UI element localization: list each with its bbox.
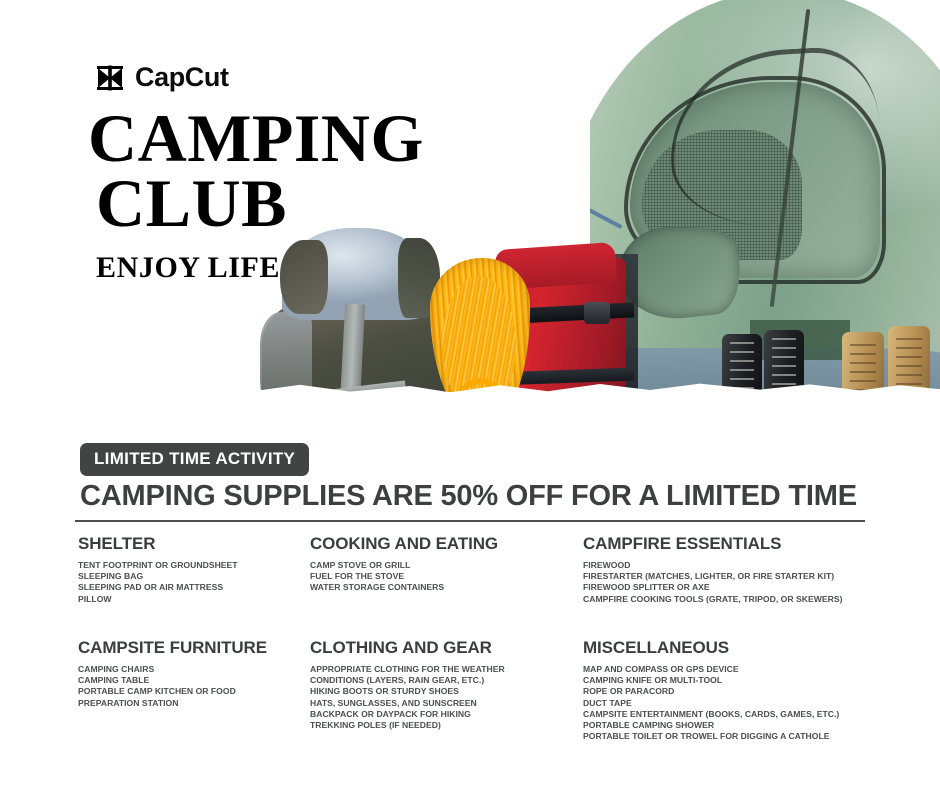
supply-item: CAMP STOVE OR GRILL [310, 560, 580, 571]
section-shelter: SHELTER TENT FOOTPRINT OR GROUNDSHEETSLE… [78, 534, 308, 605]
capcut-logo-icon [96, 65, 126, 91]
section-clothing-and-gear: CLOTHING AND GEAR APPROPRIATE CLOTHING F… [310, 638, 580, 731]
section-title: SHELTER [78, 534, 308, 554]
section-items: FIREWOODFIRESTARTER (MATCHES, LIGHTER, O… [583, 560, 883, 605]
supply-item: FIREWOOD [583, 560, 883, 571]
supply-item: FIRESTARTER (MATCHES, LIGHTER, OR FIRE S… [583, 571, 883, 582]
section-campfire-essentials: CAMPFIRE ESSENTIALS FIREWOODFIRESTARTER … [583, 534, 883, 605]
supply-item: CAMPING CHAIRS [78, 664, 308, 675]
section-cooking-and-eating: COOKING AND EATING CAMP STOVE OR GRILLFU… [310, 534, 580, 594]
supply-item: CAMPING KNIFE OR MULTI-TOOL [583, 675, 883, 686]
section-items: APPROPRIATE CLOTHING FOR THE WEATHERCOND… [310, 664, 580, 731]
supply-item: WATER STORAGE CONTAINERS [310, 582, 580, 593]
supply-item: FUEL FOR THE STOVE [310, 571, 580, 582]
brand-logo: CapCut [96, 62, 229, 93]
supply-item: SLEEPING BAG [78, 571, 308, 582]
supply-item: SLEEPING PAD OR AIR MATTRESS [78, 582, 308, 593]
supply-item: PORTABLE CAMP KITCHEN OR FOOD [78, 686, 308, 697]
section-title: MISCELLANEOUS [583, 638, 883, 658]
photo-bottom-fade [0, 392, 940, 440]
section-items: CAMPING CHAIRSCAMPING TABLEPORTABLE CAMP… [78, 664, 308, 709]
supply-item: PORTABLE TOILET OR TROWEL FOR DIGGING A … [583, 731, 883, 742]
section-items: CAMP STOVE OR GRILLFUEL FOR THE STOVEWAT… [310, 560, 580, 594]
supply-item: TENT FOOTPRINT OR GROUNDSHEET [78, 560, 308, 571]
hero-title-line-2: CLUB [96, 171, 424, 236]
supply-item: APPROPRIATE CLOTHING FOR THE WEATHER [310, 664, 580, 675]
hero-title-line-1: CAMPING [88, 106, 424, 171]
supply-item: CAMPFIRE COOKING TOOLS (GRATE, TRIPOD, O… [583, 594, 883, 605]
hero-subtitle: ENJOY LIFE [96, 251, 424, 285]
supply-item: PILLOW [78, 594, 308, 605]
promo-headline: CAMPING SUPPLIES ARE 50% OFF FOR A LIMIT… [80, 480, 857, 513]
supply-item: CAMPING TABLE [78, 675, 308, 686]
section-title: CLOTHING AND GEAR [310, 638, 580, 658]
section-campsite-furniture: CAMPSITE FURNITURE CAMPING CHAIRSCAMPING… [78, 638, 308, 709]
supply-item: HATS, SUNGLASSES, AND SUNSCREEN [310, 698, 580, 709]
brand-name: CapCut [135, 62, 229, 93]
supply-item: TREKKING POLES (IF NEEDED) [310, 720, 580, 731]
section-title: CAMPFIRE ESSENTIALS [583, 534, 883, 554]
supply-item: BACKPACK OR DAYPACK FOR HIKING [310, 709, 580, 720]
supply-item: HIKING BOOTS OR STURDY SHOES [310, 686, 580, 697]
supply-item: FIREWOOD SPLITTER OR AXE [583, 582, 883, 593]
supply-item: CONDITIONS (LAYERS, RAIN GEAR, ETC.) [310, 675, 580, 686]
section-miscellaneous: MISCELLANEOUS MAP AND COMPASS OR GPS DEV… [583, 638, 883, 742]
supply-item: PREPARATION STATION [78, 698, 308, 709]
supply-item: PORTABLE CAMPING SHOWER [583, 720, 883, 731]
supply-item: MAP AND COMPASS OR GPS DEVICE [583, 664, 883, 675]
limited-time-badge: LIMITED TIME ACTIVITY [80, 443, 309, 476]
supply-item: CAMPSITE ENTERTAINMENT (BOOKS, CARDS, GA… [583, 709, 883, 720]
section-items: MAP AND COMPASS OR GPS DEVICECAMPING KNI… [583, 664, 883, 742]
supply-item: DUCT TAPE [583, 698, 883, 709]
section-title: COOKING AND EATING [310, 534, 580, 554]
hero-title-block: CAMPING CLUB ENJOY LIFE [88, 106, 424, 285]
supply-item: ROPE OR PARACORD [583, 686, 883, 697]
section-items: TENT FOOTPRINT OR GROUNDSHEETSLEEPING BA… [78, 560, 308, 605]
headline-divider [75, 520, 865, 522]
section-title: CAMPSITE FURNITURE [78, 638, 308, 658]
